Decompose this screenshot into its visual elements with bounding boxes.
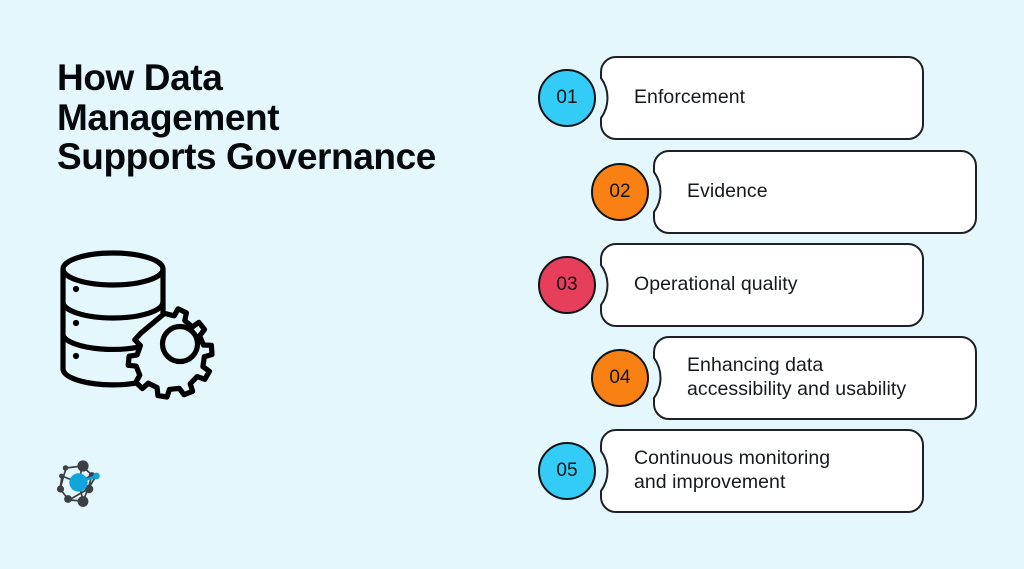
step-number: 04 xyxy=(609,367,630,389)
step-label: Enforcement xyxy=(634,56,745,140)
step-label: Operational quality xyxy=(634,243,798,327)
step-number: 03 xyxy=(556,274,577,296)
step-number-badge[interactable]: 05 xyxy=(538,442,596,500)
step-number: 05 xyxy=(556,460,577,482)
step-number: 01 xyxy=(556,87,577,109)
step-number-badge[interactable]: 02 xyxy=(591,163,649,221)
step-number-badge[interactable]: 03 xyxy=(538,256,596,314)
step-card: Continuous monitoring and improvement xyxy=(600,429,924,513)
step-card: Enforcement xyxy=(600,56,924,140)
step-card: Evidence xyxy=(653,150,977,234)
infographic-canvas: How Data Management Supports Governance xyxy=(0,0,1024,569)
step-number-badge[interactable]: 04 xyxy=(591,349,649,407)
step-label: Enhancing data accessibility and usabili… xyxy=(687,336,906,420)
step-label: Evidence xyxy=(687,150,768,234)
step-card: Operational quality xyxy=(600,243,924,327)
step-label: Continuous monitoring and improvement xyxy=(634,429,830,513)
steps-list: Enforcement 01 Evidence 02 xyxy=(0,0,1024,569)
step-number: 02 xyxy=(609,181,630,203)
step-number-badge[interactable]: 01 xyxy=(538,69,596,127)
step-card: Enhancing data accessibility and usabili… xyxy=(653,336,977,420)
